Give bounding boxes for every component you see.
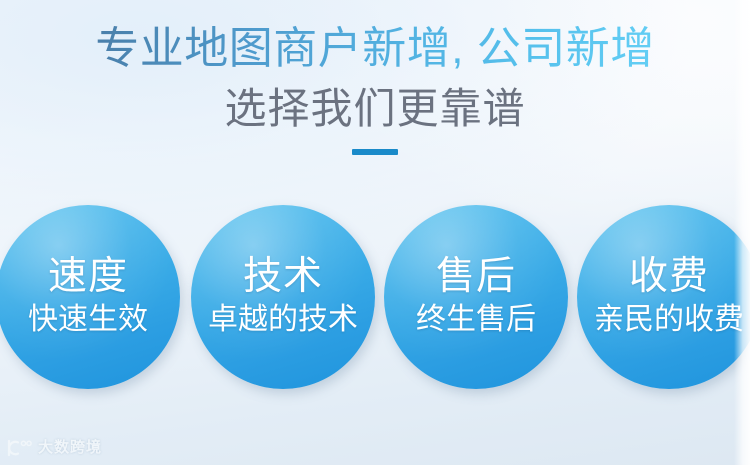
feature-circle-row: 速度 快速生效 技术 卓越的技术 售后 终生售后 收费 亲民的收费 — [0, 205, 750, 405]
feature-caption: 卓越的技术 — [208, 301, 358, 339]
feature-circle-speed[interactable]: 速度 快速生效 — [0, 205, 180, 389]
feature-caption: 亲民的收费 — [594, 301, 744, 339]
watermark: 大数跨境 — [7, 438, 102, 458]
headline-block: 专业地图商户新增, 公司新增 选择我们更靠谱 — [0, 0, 750, 155]
feature-title: 速度 — [48, 255, 128, 299]
page-title: 专业地图商户新增, 公司新增 — [0, 0, 750, 77]
feature-caption: 终生售后 — [416, 301, 536, 339]
feature-title: 技术 — [243, 255, 323, 299]
feature-title: 售后 — [436, 255, 516, 299]
watermark-text: 大数跨境 — [38, 439, 102, 457]
title-divider — [352, 149, 398, 155]
feature-circle-pricing[interactable]: 收费 亲民的收费 — [577, 205, 750, 389]
dashuji-logo-icon — [7, 438, 33, 458]
promo-banner: 专业地图商户新增, 公司新增 选择我们更靠谱 速度 快速生效 技术 卓越的技术 … — [0, 0, 750, 465]
feature-circle-after-sales[interactable]: 售后 终生售后 — [384, 205, 568, 389]
feature-title: 收费 — [629, 255, 709, 299]
feature-circle-technology[interactable]: 技术 卓越的技术 — [191, 205, 375, 389]
page-subtitle: 选择我们更靠谱 — [0, 77, 750, 135]
feature-caption: 快速生效 — [28, 301, 148, 339]
